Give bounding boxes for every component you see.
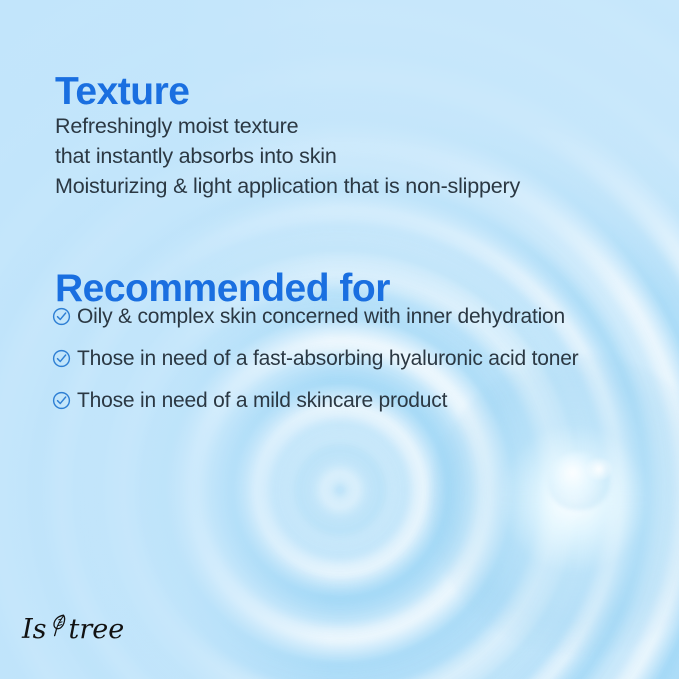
recommended-list: Oily & complex skin concerned with inner… [52, 303, 578, 429]
list-item-label: Oily & complex skin concerned with inner… [77, 303, 565, 330]
list-item: Oily & complex skin concerned with inner… [52, 303, 578, 330]
leaf-icon [47, 612, 71, 638]
texture-description: Refreshingly moist texture that instantl… [55, 111, 520, 201]
texture-heading: Texture [55, 70, 190, 114]
brand-logo-suffix: tree [69, 614, 125, 645]
texture-description-line: Refreshingly moist texture [55, 111, 520, 141]
check-circle-icon [52, 391, 71, 410]
content-layer: Texture Refreshingly moist texture that … [0, 0, 679, 679]
product-detail-graphic: Texture Refreshingly moist texture that … [0, 0, 679, 679]
check-circle-icon [52, 349, 71, 368]
list-item-label: Those in need of a mild skincare product [77, 387, 447, 414]
brand-logo: Is tree [22, 614, 124, 645]
list-item: Those in need of a mild skincare product [52, 387, 578, 414]
texture-description-line: that instantly absorbs into skin [55, 141, 520, 171]
list-item-label: Those in need of a fast-absorbing hyalur… [77, 345, 578, 372]
check-circle-icon [52, 307, 71, 326]
texture-description-line: Moisturizing & light application that is… [55, 171, 520, 201]
list-item: Those in need of a fast-absorbing hyalur… [52, 345, 578, 372]
brand-logo-prefix: Is [22, 614, 47, 645]
